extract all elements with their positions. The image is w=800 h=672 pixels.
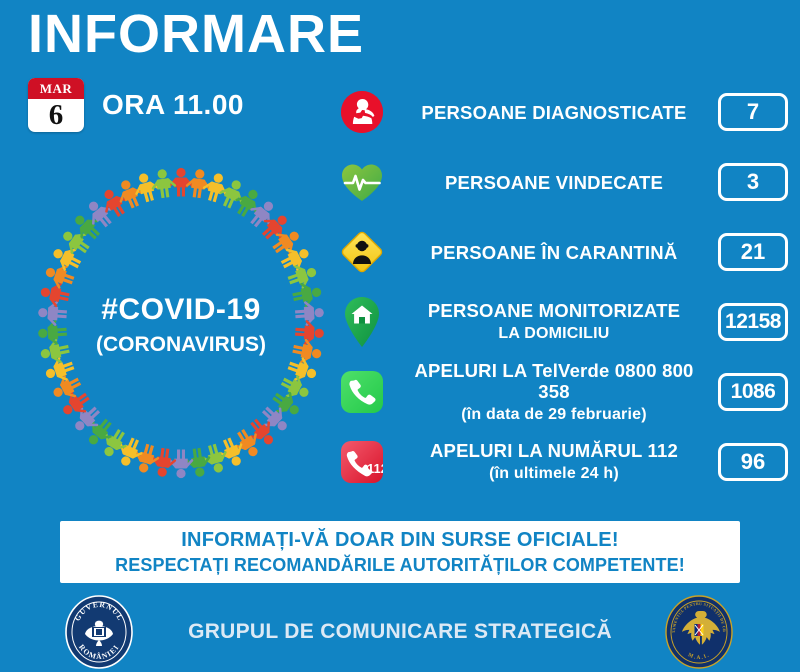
covid-ring-panel: #COVID-19 (CORONAVIRUS) bbox=[26, 158, 336, 488]
stat-value-box: 12158 bbox=[718, 303, 788, 341]
stat-label: PERSOANE DIAGNOSTICATE bbox=[388, 102, 718, 123]
home-pin-icon bbox=[336, 294, 388, 350]
ring-person bbox=[170, 168, 192, 197]
hour-label: ORA 11.00 bbox=[102, 89, 244, 121]
calendar-icon: MAR 6 bbox=[28, 78, 84, 132]
stat-label-main: APELURI LA NUMĂRUL 112 bbox=[398, 440, 710, 461]
footer: GUVERNUL ROMÂNIEI GRUPUL DE COMUNICARE S… bbox=[0, 592, 800, 672]
stat-row: APELURI LA TelVerde 0800 800 358 (în dat… bbox=[336, 358, 788, 426]
stat-label: PERSOANE MONITORIZATE LA DOMICILIU bbox=[388, 300, 718, 344]
calendar-month: MAR bbox=[28, 78, 84, 99]
footer-title: GRUPUL DE COMUNICARE STRATEGICĂ bbox=[188, 620, 612, 644]
stat-label-main: APELURI LA TelVerde 0800 800 358 bbox=[398, 360, 710, 402]
stat-row: PERSOANE MONITORIZATE LA DOMICILIU 12158 bbox=[336, 288, 788, 356]
stat-value-box: 21 bbox=[718, 233, 788, 271]
sick-person-icon bbox=[336, 84, 388, 140]
stat-label-main: PERSOANE ÎN CARANTINĂ bbox=[398, 242, 710, 263]
stat-label-sub: LA DOMICILIU bbox=[398, 323, 710, 344]
ring-person bbox=[151, 447, 177, 478]
dsu-mai-seal: DEPARTAMENTUL PENTRU SITUAȚII DE URGENȚĂ… bbox=[656, 594, 742, 670]
notice-line-2: RESPECTAȚI RECOMANDĂRILE AUTORITĂȚILOR C… bbox=[115, 555, 685, 576]
stat-label: APELURI LA NUMĂRUL 112 (în ultimele 24 h… bbox=[388, 440, 718, 484]
stat-label-sub: (în data de 29 februarie) bbox=[398, 404, 710, 425]
phone-112-icon: 112 bbox=[336, 434, 388, 490]
ring-person bbox=[151, 168, 177, 199]
guvernul-romaniei-seal: GUVERNUL ROMÂNIEI bbox=[56, 594, 142, 670]
calendar-day: 6 bbox=[28, 99, 84, 132]
stat-value-box: 7 bbox=[718, 93, 788, 131]
stat-row: PERSOANE VINDECATE 3 bbox=[336, 148, 788, 216]
stat-value-box: 1086 bbox=[718, 373, 788, 411]
quarantine-warning-icon bbox=[336, 224, 388, 280]
stat-label: PERSOANE ÎN CARANTINĂ bbox=[388, 242, 718, 263]
stat-row: PERSOANE DIAGNOSTICATE 7 bbox=[336, 78, 788, 146]
stat-label-main: PERSOANE DIAGNOSTICATE bbox=[398, 102, 710, 123]
ring-person bbox=[170, 450, 192, 479]
stat-label-main: PERSOANE VINDECATE bbox=[398, 172, 710, 193]
covid-ring-label: #COVID-19 (CORONAVIRUS) bbox=[26, 293, 336, 357]
official-sources-notice: INFORMAȚI-VĂ DOAR DIN SURSE OFICIALE! RE… bbox=[60, 521, 740, 583]
phone-112-text: 112 bbox=[367, 461, 383, 476]
stat-label-main: PERSOANE MONITORIZATE bbox=[398, 300, 710, 321]
notice-line-1: INFORMAȚI-VĂ DOAR DIN SURSE OFICIALE! bbox=[181, 529, 618, 552]
stat-value-box: 3 bbox=[718, 163, 788, 201]
heart-pulse-icon bbox=[336, 154, 388, 210]
statistics-list: PERSOANE DIAGNOSTICATE 7 PERSOANE VINDEC… bbox=[336, 78, 788, 498]
stat-row: 112 APELURI LA NUMĂRUL 112 (în ultimele … bbox=[336, 428, 788, 496]
stat-value-box: 96 bbox=[718, 443, 788, 481]
covid-hashtag: #COVID-19 bbox=[26, 293, 336, 327]
covid-subtitle: (CORONAVIRUS) bbox=[26, 333, 336, 357]
ring-person bbox=[186, 168, 212, 199]
stat-label: PERSOANE VINDECATE bbox=[388, 172, 718, 193]
stat-label-sub: (în ultimele 24 h) bbox=[398, 463, 710, 484]
date-row: MAR 6 ORA 11.00 bbox=[28, 78, 244, 132]
stat-label: APELURI LA TelVerde 0800 800 358 (în dat… bbox=[388, 360, 718, 425]
stat-row: PERSOANE ÎN CARANTINĂ 21 bbox=[336, 218, 788, 286]
page-title: INFORMARE bbox=[28, 4, 364, 64]
phone-green-icon bbox=[336, 364, 388, 420]
